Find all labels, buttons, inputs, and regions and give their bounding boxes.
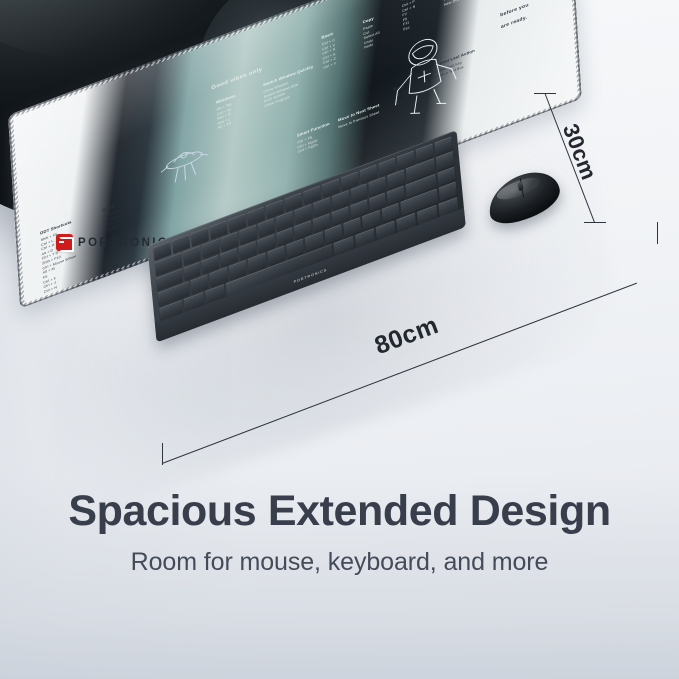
- height-tick-top: [534, 93, 556, 94]
- height-tick-bottom: [584, 222, 606, 223]
- pad-quote-good-vibes: Good vibes only: [211, 66, 262, 91]
- subheadline: Room for mouse, keyboard, and more: [0, 548, 679, 577]
- pad-panel-copy: Copy Paste Cut Select All Undo Redo: [363, 14, 381, 50]
- product-marketing-image: DDT Shortcuts Shift + F5 Ctrl + L Ctrl +…: [0, 0, 679, 679]
- pad-panel-basic: Basic Ctrl + C Ctrl + V Ctrl + X Ctrl + …: [321, 31, 336, 71]
- astronaut-line-art: [383, 18, 465, 127]
- pad-panel-quick: Quick Open Screen Layout Change Shortcut…: [102, 195, 140, 234]
- pad-panel-office: Office Ctrl + F6 Ctrl + Page Down Print …: [443, 0, 475, 7]
- headline: Spacious Extended Design: [0, 488, 679, 534]
- portronics-logo-icon: [56, 234, 73, 251]
- pad-panel-repeat-action: Repeat Last Action Follow Fast Key Inser…: [434, 48, 475, 79]
- pad-panel-switch-window: Switch Window Quickly Close Window Switc…: [263, 64, 315, 108]
- pad-panel-move-sheet: Move to Next Sheet Move to Previous Shee…: [338, 103, 380, 130]
- mouse-scroll-wheel: [518, 181, 524, 191]
- pad-panel-smart-function: Smart Function Ctrl + F5 Ctrl + PgUp Ctr…: [297, 121, 331, 154]
- pad-panel-easy: Easy Ctrl + Y Ctrl + E Ctrl + L: [393, 82, 407, 108]
- marketing-copy: Spacious Extended Design Room for mouse,…: [0, 488, 679, 577]
- pad-panel-ddt: DDT Shortcuts Shift + F5 Ctrl + L Ctrl +…: [40, 219, 78, 295]
- width-tick-left: [162, 443, 163, 465]
- ufo-line-art: [154, 131, 215, 196]
- pad-panel-windows: Windows Alt + Tab Ctrl + W Win + E Win +…: [216, 93, 237, 130]
- pad-panel-system: System Ctrl + P Ctrl + S F2 F5 F11 Esc: [401, 0, 419, 32]
- pad-quote-are-ready: are ready.: [501, 15, 528, 30]
- width-tick-right: [657, 222, 658, 244]
